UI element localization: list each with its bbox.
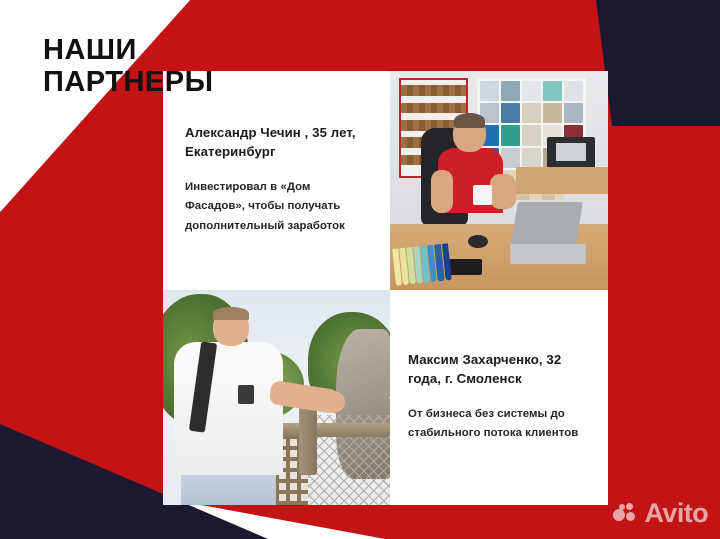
office-equipment-panel: [556, 143, 587, 161]
testimonial-row: Александр Чечин , 35 лет, Екатеринбург И…: [163, 71, 608, 290]
person-arm-left: [431, 170, 453, 214]
tshirt-logo: [238, 385, 254, 404]
testimonial-name: Максим Захарченко, 32 года, г. Смоленск: [408, 351, 592, 388]
person-white-tshirt: [174, 342, 283, 475]
testimonial-name: Александр Чечин , 35 лет, Екатеринбург: [185, 124, 370, 161]
laptop-base: [510, 244, 586, 264]
person-hair: [213, 307, 249, 320]
outdoor-scene: [163, 290, 390, 505]
office-scene: [390, 71, 608, 290]
page-title: НАШИ ПАРТНЕРЫ: [43, 34, 213, 99]
testimonial-row: Максим Захарченко, 32 года, г. Смоленск …: [163, 290, 608, 505]
chevron-left-icon: [389, 381, 406, 415]
person-arm-right: [490, 174, 516, 209]
navy-top-right: [596, 0, 720, 126]
chevron-right-icon: [374, 164, 391, 198]
avito-watermark: Avito: [613, 500, 709, 527]
fence-post: [299, 402, 317, 475]
slide-canvas: НАШИ ПАРТНЕРЫ Александр Чечин , 35 лет, …: [0, 0, 720, 539]
testimonial-photo: [163, 290, 390, 505]
testimonial-body: Инвестировал в «Дом Фасадов», чтобы полу…: [185, 178, 370, 237]
testimonials-card: Александр Чечин , 35 лет, Екатеринбург И…: [163, 71, 608, 505]
testimonial-text-panel: Александр Чечин , 35 лет, Екатеринбург И…: [163, 71, 390, 290]
testimonial-photo: [390, 71, 608, 290]
side-table: [516, 167, 608, 193]
avito-wordmark: Avito: [645, 500, 709, 527]
measuring-tool: [449, 259, 482, 274]
avito-dots-icon: [613, 503, 639, 525]
color-fan-deck: [393, 243, 453, 286]
testimonial-body: От бизнеса без системы до стабильного по…: [408, 405, 592, 444]
person-hand: [322, 391, 345, 413]
person-badge: [473, 185, 493, 205]
testimonial-text-panel: Максим Захарченко, 32 года, г. Смоленск …: [390, 290, 608, 505]
person-hair: [454, 113, 485, 128]
